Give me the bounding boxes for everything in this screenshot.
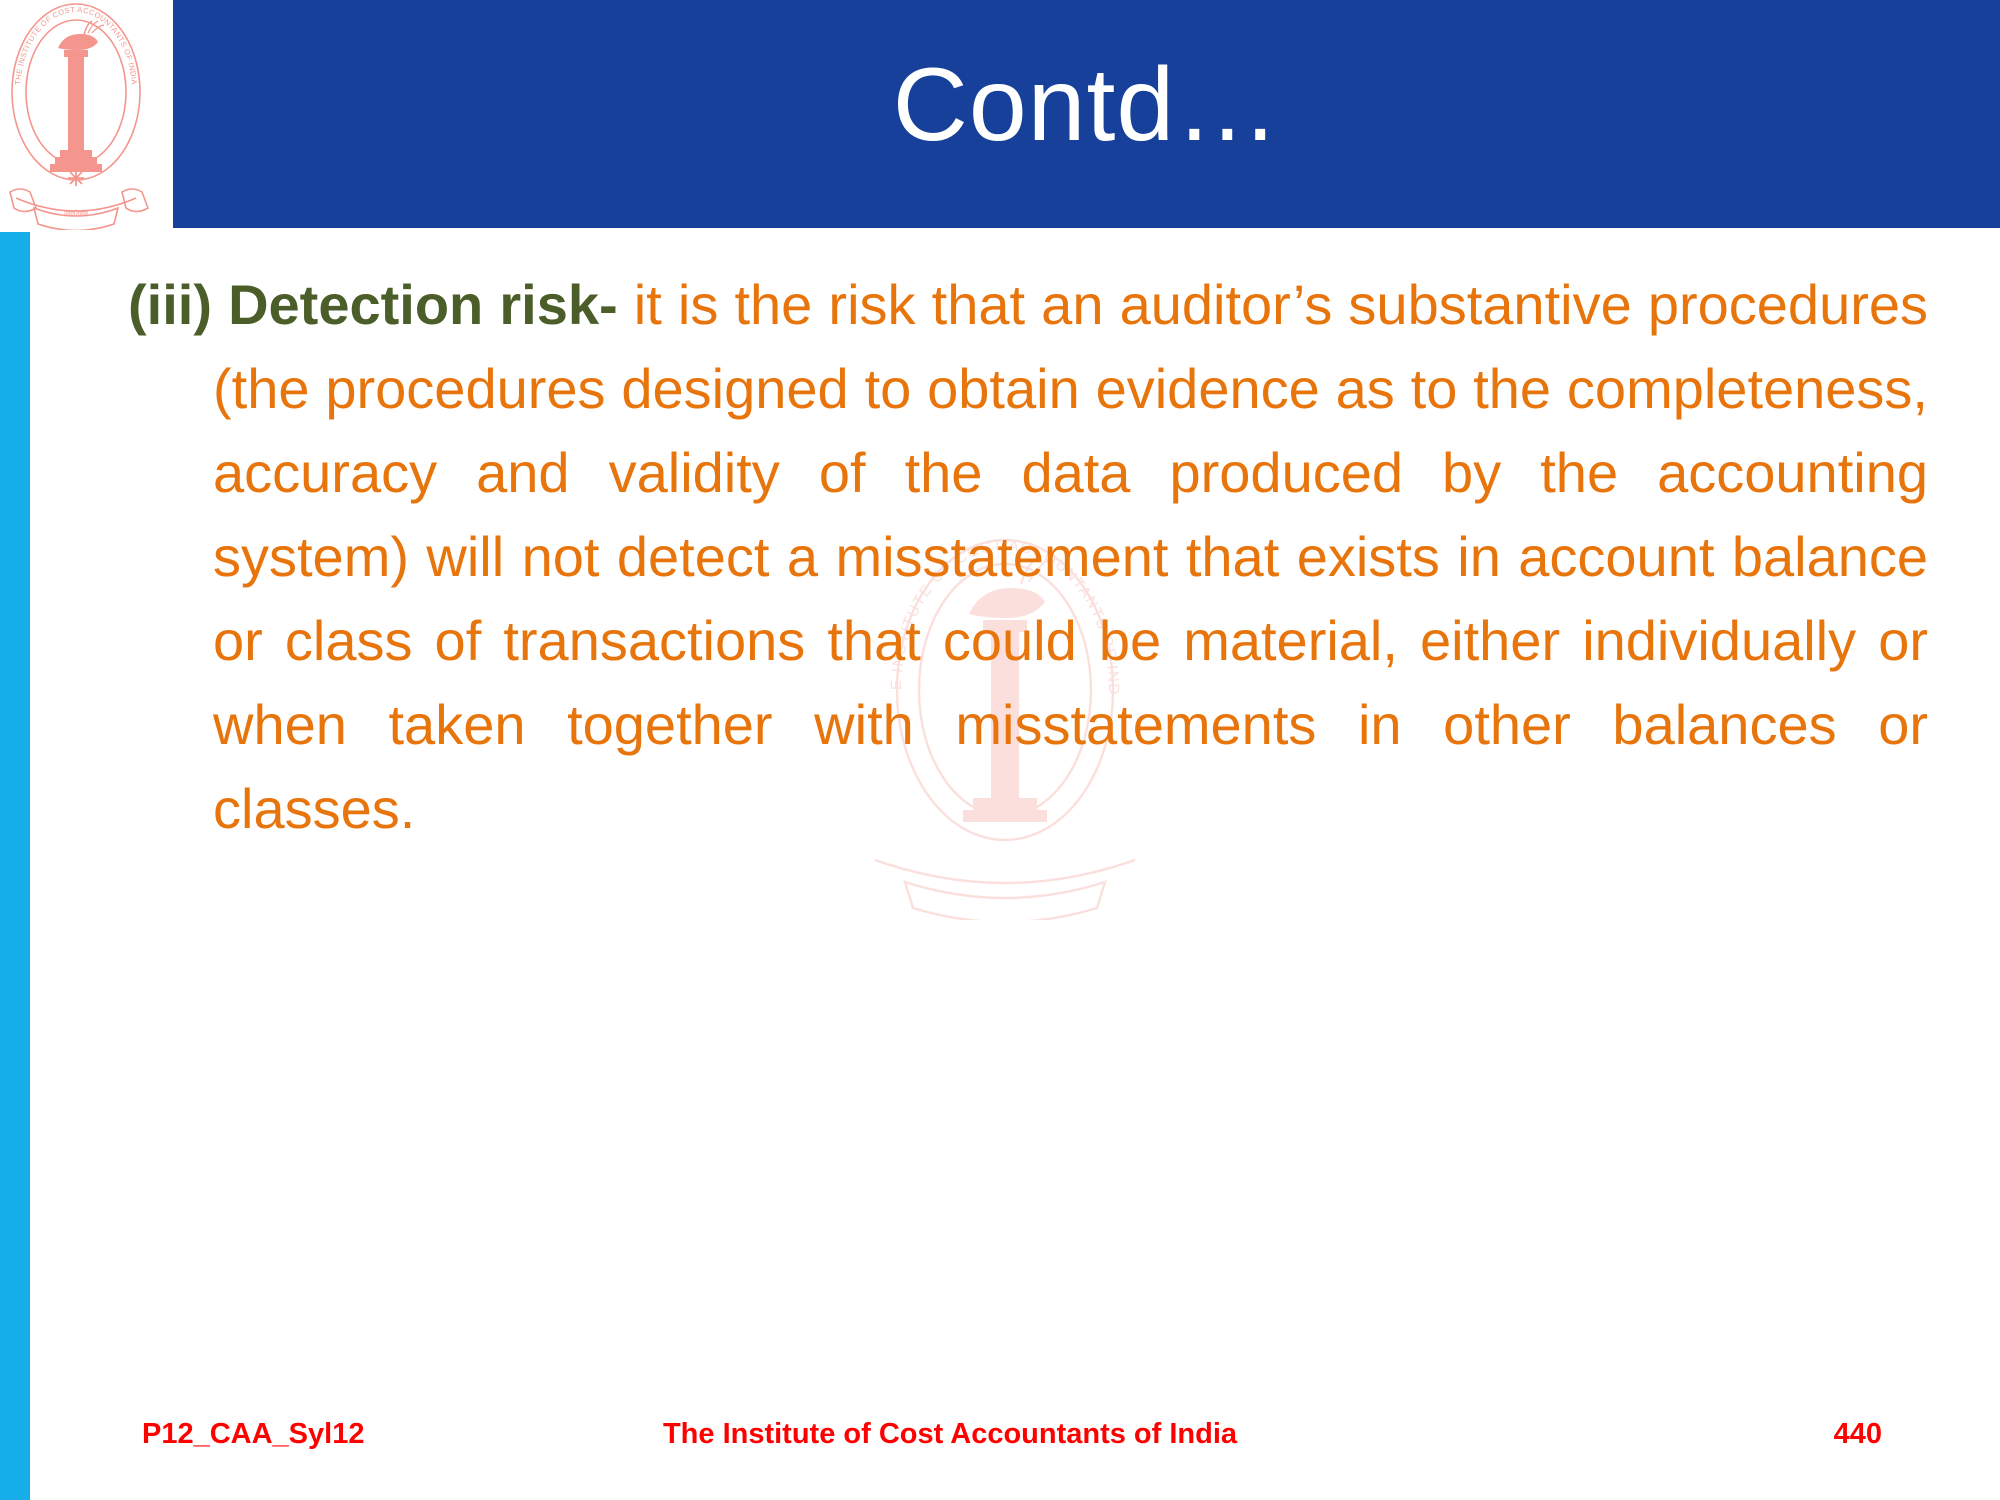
slide-title: Contd… [173,0,2000,228]
body-paragraph-inner: (iii) Detection risk- it is the risk tha… [128,263,1928,851]
body-paragraph: (iii) Detection risk- it is the risk tha… [128,263,1928,935]
footer-institute-name: The Institute of Cost Accountants of Ind… [0,1418,2000,1451]
icai-logo-icon: THE INSTITUTE OF COST ACCOUNTANTS OF IND… [6,2,171,230]
footer-page-number: 440 [1834,1418,1882,1451]
body-lead-label: (iii) Detection risk- [128,273,618,336]
slide-body: (iii) Detection risk- it is the risk tha… [128,263,1928,935]
slide-footer: P12_CAA_Syl12 The Institute of Cost Acco… [0,1390,2000,1500]
slide-canvas: Contd… [0,0,2000,1500]
left-accent-bar [0,232,30,1500]
body-paragraph-text: it is the risk that an auditor’s substan… [213,273,1928,840]
svg-text:ज्योतिर्मय: ज्योतिर्मय [64,209,89,218]
